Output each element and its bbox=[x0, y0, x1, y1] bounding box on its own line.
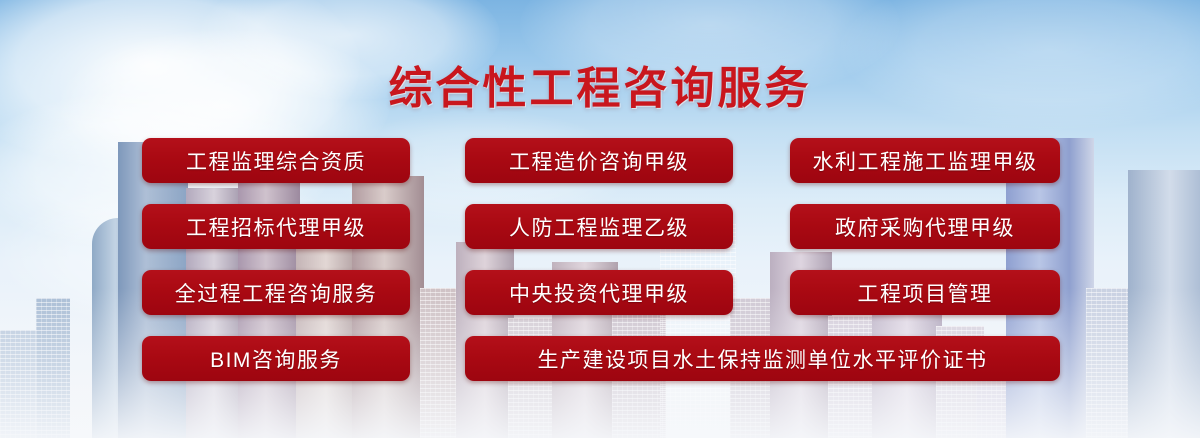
page-title: 综合性工程咨询服务 bbox=[0, 52, 1200, 116]
qualification-badge[interactable]: BIM咨询服务 bbox=[142, 336, 410, 381]
building-shape bbox=[36, 298, 70, 438]
qualification-badge[interactable]: 工程招标代理甲级 bbox=[142, 204, 410, 249]
qualification-badge[interactable]: 政府采购代理甲级 bbox=[790, 204, 1060, 249]
building-shape bbox=[660, 224, 736, 438]
qualification-badge[interactable]: 工程项目管理 bbox=[790, 270, 1060, 315]
qualification-badge[interactable]: 工程造价咨询甲级 bbox=[465, 138, 733, 183]
qualification-badge[interactable]: 人防工程监理乙级 bbox=[465, 204, 733, 249]
qualification-badge[interactable]: 全过程工程咨询服务 bbox=[142, 270, 410, 315]
promo-banner: 综合性工程咨询服务 工程监理综合资质 工程招标代理甲级 全过程工程咨询服务 BI… bbox=[0, 0, 1200, 438]
qualification-badge[interactable]: 中央投资代理甲级 bbox=[465, 270, 733, 315]
qualification-badge-wide[interactable]: 生产建设项目水土保持监测单位水平评价证书 bbox=[465, 336, 1060, 381]
qualification-badge[interactable]: 工程监理综合资质 bbox=[142, 138, 410, 183]
qualification-badge[interactable]: 水利工程施工监理甲级 bbox=[790, 138, 1060, 183]
building-shape bbox=[1128, 170, 1200, 438]
